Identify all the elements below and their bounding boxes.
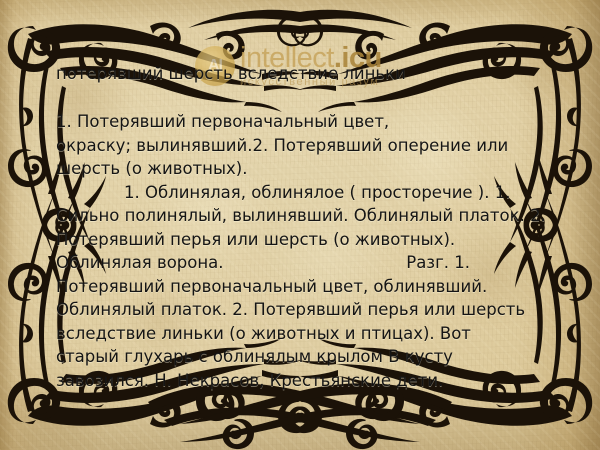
body-line-4: 1. Облинялая, облинялое ( просторечие ).… [56,181,558,205]
headline-text: потерявший шерсть вследствие линьки [56,64,406,84]
body-line-5: Сильно полинялый, вылинявший. Облинялый … [56,204,558,228]
body-line-8: Потерявший первоначальный цвет, облинявш… [56,275,558,299]
dictionary-slide: AI intellect.icu искусственный разум пот… [0,0,600,450]
definition-body: 1. Потерявший первоначальный цвет, окрас… [56,110,558,392]
body-line-2: окраску; вылинявший.2. Потерявший оперен… [56,134,558,158]
body-line-6: Потерявший перья или шерсть (о животных)… [56,228,558,252]
body-line-11: старый глухарь с облинялым крылом В куст… [56,345,558,369]
body-line-9: Облинялый платок. 2. Потерявший перья ил… [56,298,558,322]
body-line-10: вследствие линьки (о животных и птицах).… [56,322,558,346]
body-line-12: завозился. Н. Некрасов, Крестьянские дет… [56,369,558,393]
body-line-7-row: Облинялая ворона. Разг. 1. [56,251,558,275]
body-line-7: Облинялая ворона. [56,251,224,275]
body-line-1: 1. Потерявший первоначальный цвет, [56,110,558,134]
body-line-3: шерсть (о животных). [56,157,558,181]
body-line-7-note: Разг. 1. [406,251,558,275]
